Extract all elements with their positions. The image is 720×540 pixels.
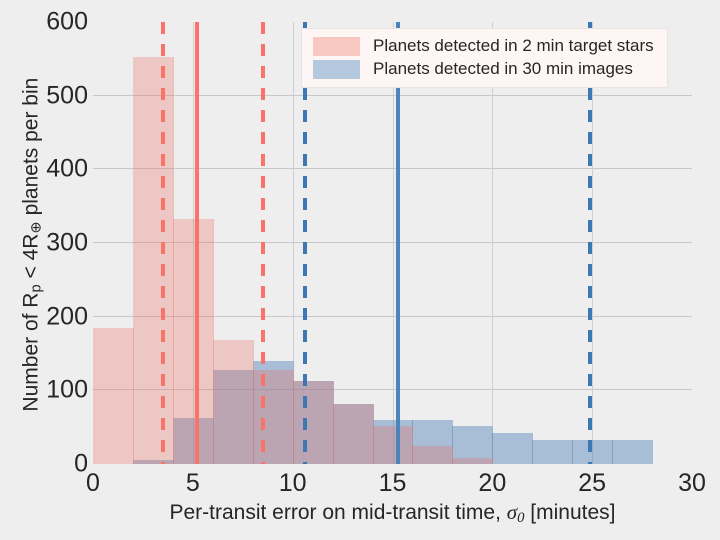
y-tick-label-400: 400 <box>2 155 88 184</box>
legend-label-2min: Planets detected in 2 min target stars <box>373 36 654 56</box>
bar-2min-2 <box>173 219 214 464</box>
reference-line-blue-dashed-low <box>303 22 307 464</box>
x-tick-label-20: 20 <box>478 469 506 498</box>
x-axis-label-text: Per-transit error on mid-transit time, <box>169 501 506 524</box>
bar-2min-0 <box>93 328 134 464</box>
gridline-x-15 <box>393 22 394 464</box>
reference-line-blue-solid <box>396 22 400 464</box>
sigma-symbol: σ <box>507 500 517 524</box>
reference-line-red-dashed-low <box>161 22 165 464</box>
x-tick-label-5: 5 <box>186 469 200 498</box>
x-tick-label-0: 0 <box>86 469 100 498</box>
y-axis-label-pre: Number of R <box>19 293 42 412</box>
reference-line-red-solid <box>195 22 199 464</box>
bar-2min-9 <box>452 458 493 464</box>
bar-30min-12 <box>572 440 613 464</box>
reference-line-blue-dashed-high <box>588 22 592 464</box>
y-tick-label-500: 500 <box>2 81 88 110</box>
y-tick-label-200: 200 <box>2 302 88 331</box>
earth-subscript: ⊕ <box>29 221 45 233</box>
y-tick-label-300: 300 <box>2 229 88 258</box>
y-tick-label-100: 100 <box>2 376 88 405</box>
bar-2min-6 <box>333 404 374 464</box>
bar-2min-4 <box>253 370 294 464</box>
y-axis-label-post: planets per bin <box>19 78 42 222</box>
x-axis-label: Per-transit error on mid-transit time, σ… <box>93 500 692 527</box>
bar-30min-10 <box>492 433 533 464</box>
reference-line-red-dashed-high <box>261 22 265 464</box>
bar-30min-13 <box>612 440 653 464</box>
gridline-x-25 <box>592 22 593 464</box>
legend-label-30min: Planets detected in 30 min images <box>373 59 633 79</box>
x-tick-label-10: 10 <box>279 469 307 498</box>
bar-2min-3 <box>213 340 254 464</box>
rp-subscript: p <box>29 284 45 292</box>
y-tick-label-600: 600 <box>2 8 88 37</box>
histogram-figure: 0100200300400500600 051015202530 Per-tra… <box>0 0 720 540</box>
bar-30min-11 <box>532 440 573 464</box>
x-tick-label-25: 25 <box>578 469 606 498</box>
x-tick-label-15: 15 <box>379 469 407 498</box>
bar-2min-5 <box>293 381 334 464</box>
y-axis-label: Number of Rp < 4R⊕ planets per bin <box>19 25 44 465</box>
legend-item-30min: Planets detected in 30 min images <box>313 59 654 79</box>
legend-swatch-blue-icon <box>313 60 360 79</box>
y-tick-label-0: 0 <box>2 450 88 479</box>
bar-2min-7 <box>373 426 414 464</box>
bar-2min-1 <box>133 57 174 464</box>
gridline-x-20 <box>492 22 493 464</box>
x-tick-label-30: 30 <box>678 469 706 498</box>
y-axis-label-mid: < 4R <box>19 234 42 285</box>
x-axis-label-units: [minutes] <box>524 501 615 524</box>
legend-item-2min: Planets detected in 2 min target stars <box>313 36 654 56</box>
plot-area <box>93 22 692 464</box>
legend: Planets detected in 2 min target stars P… <box>301 28 668 88</box>
legend-swatch-pink-icon <box>313 37 360 56</box>
x-axis-ticks: 051015202530 <box>93 469 692 501</box>
bar-2min-8 <box>412 446 453 464</box>
